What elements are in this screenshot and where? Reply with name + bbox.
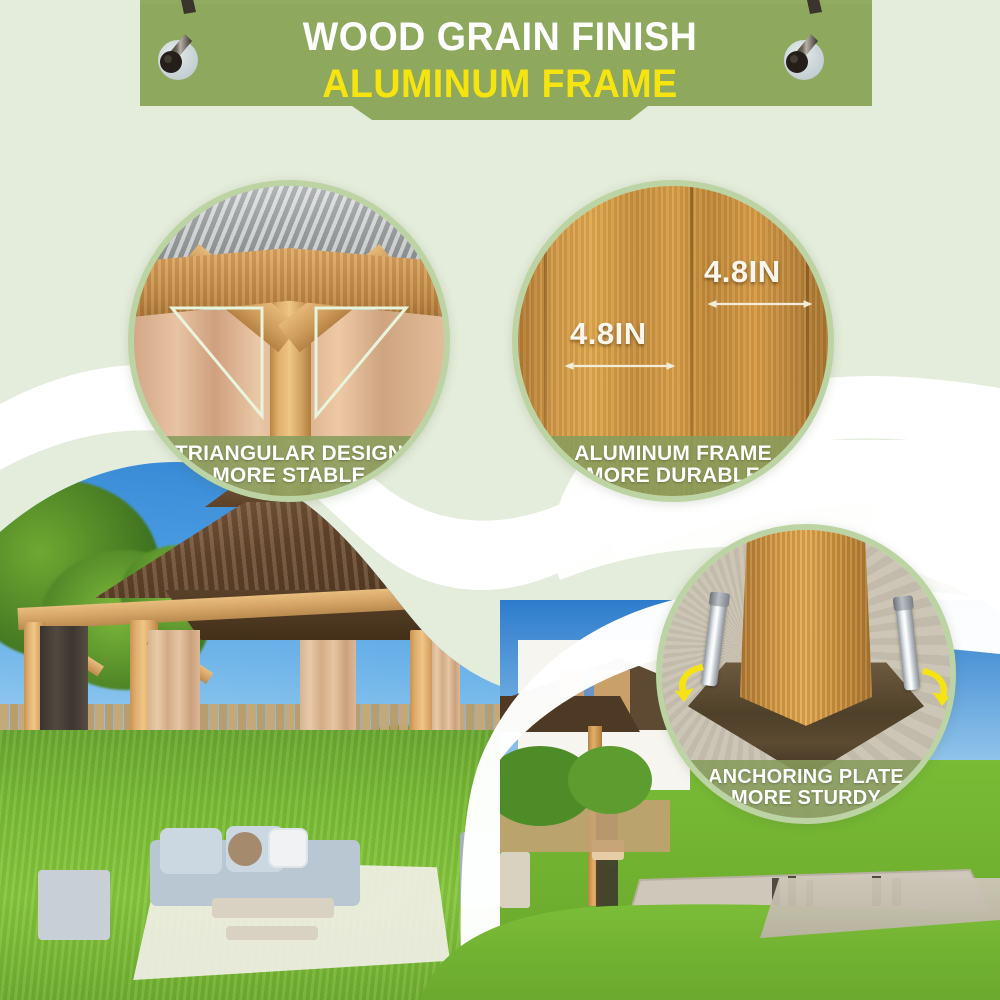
screw-pin-right [776, 30, 834, 88]
sofa-cushion [160, 828, 222, 874]
caption-line-1: ANCHORING PLATE [666, 767, 946, 787]
coffee-table-shelf [226, 926, 318, 940]
coffee-table [212, 898, 334, 918]
pin-stems [0, 0, 1000, 26]
dimension-arrow-upper-icon [690, 298, 828, 310]
curved-arrow-right-icon [912, 664, 950, 706]
screw-icon [150, 30, 208, 88]
feature-circle-triangular-design[interactable]: TRIANGULAR DESIGN MORE STABLE [128, 180, 450, 502]
circle-1-caption: TRIANGULAR DESIGN MORE STABLE [134, 436, 444, 496]
dimension-label-lower: 4.8IN [570, 316, 647, 352]
infographic-canvas: WOOD GRAIN FINISH ALUMINUM FRAME [0, 0, 1000, 1000]
screw-pin-left [150, 30, 208, 88]
feature-circle-anchoring-plate[interactable]: ANCHORING PLATE MORE STURDY [656, 524, 956, 824]
throw-pillow-pattern [268, 828, 308, 868]
screw-icon [776, 30, 834, 88]
caption-line-2: MORE STABLE [138, 465, 440, 486]
bolt-head-icon [893, 595, 914, 611]
circle-2-caption: ALUMINUM FRAME MORE DURABLE [518, 436, 828, 496]
circle-3-caption: ANCHORING PLATE MORE STURDY [662, 760, 950, 818]
dining-chair [460, 832, 494, 908]
dimension-arrow-lower-icon [546, 360, 694, 372]
lounge-chair [38, 870, 110, 940]
caption-line-1: TRIANGULAR DESIGN [138, 443, 440, 464]
feature-circle-aluminum-frame[interactable]: 4.8IN 4.8IN ALUMINUM FRAME MORE DURABLE [512, 180, 834, 502]
throw-pillow [228, 832, 262, 866]
caption-line-2: MORE STURDY [666, 788, 946, 808]
dimension-label-upper: 4.8IN [704, 254, 781, 290]
header-banner: WOOD GRAIN FINISH ALUMINUM FRAME [0, 0, 1000, 140]
bolt-head-icon [709, 591, 731, 607]
caption-line-1: ALUMINUM FRAME [522, 443, 824, 464]
caption-line-2: MORE DURABLE [522, 465, 824, 486]
gazebo-post-base [740, 530, 872, 726]
curved-arrow-left-icon [672, 660, 714, 702]
